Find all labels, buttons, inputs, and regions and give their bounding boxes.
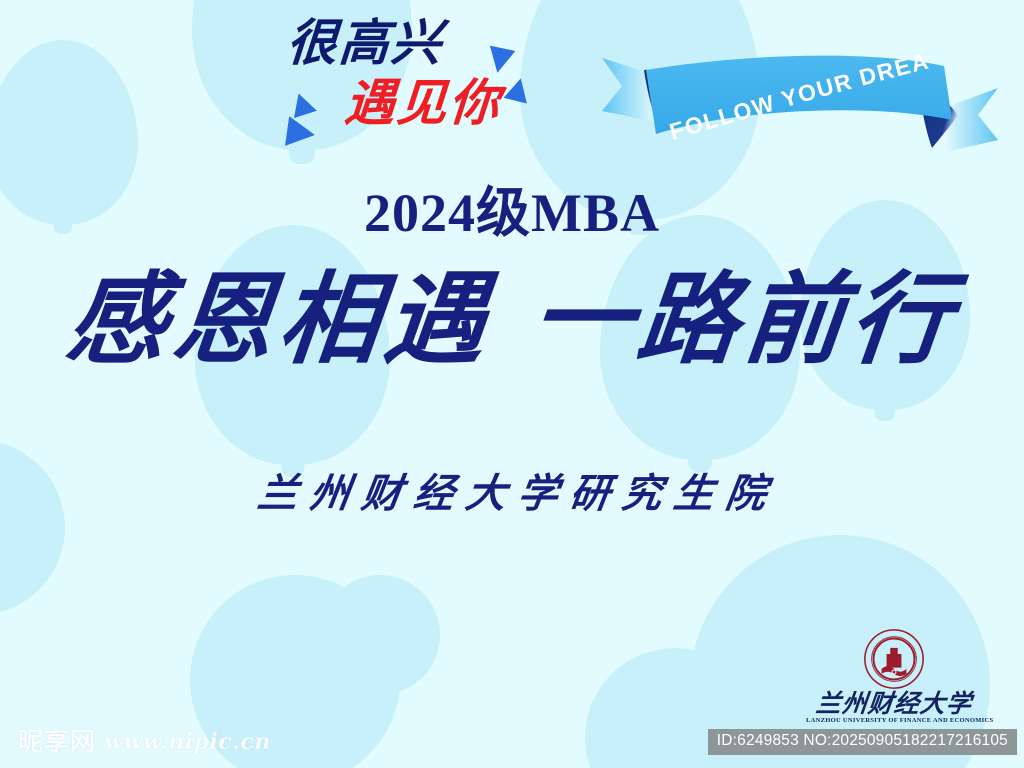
site-watermark-url: www.nipic.cn xyxy=(104,731,271,753)
site-watermark: 昵享网 www.nipic.cn xyxy=(18,729,271,754)
poster-canvas: 很高兴 遇见你 xyxy=(0,0,1024,768)
greeting-line-2: 遇见你 xyxy=(343,78,502,128)
program-title: 2024级MBA xyxy=(0,186,1024,240)
organization-title: 兰州财经大学研究生院 xyxy=(0,474,1024,514)
slogan-title: 感恩相遇 一路前行 xyxy=(0,266,1024,372)
ribbon-graphic: FOLLOW YOUR DREAM xyxy=(600,48,1000,178)
university-name-en: LANZHOU UNIVERSITY OF FINANCE AND ECONOM… xyxy=(806,718,982,725)
greeting-line-1: 很高兴 xyxy=(285,18,444,68)
triangle-down-icon xyxy=(485,46,516,76)
university-name-cn: 兰州财经大学 xyxy=(805,691,984,716)
triangle-right-icon xyxy=(285,116,317,150)
circle-shape xyxy=(0,440,65,615)
university-logo: LANZHOU UNIVERSITY OF FINANCE 兰州财经大学 LAN… xyxy=(806,628,982,724)
image-id-watermark: ID:6249853 NO:20250905182217216105 xyxy=(708,729,1017,755)
ribbon-banner: FOLLOW YOUR DREAM xyxy=(600,48,1000,178)
university-seal-emblem: LANZHOU UNIVERSITY OF FINANCE xyxy=(863,628,925,690)
circle-shape xyxy=(320,575,440,695)
site-watermark-mark: 昵享网 xyxy=(18,729,96,754)
triangle-up-icon xyxy=(504,75,533,103)
greeting-block: 很高兴 遇见你 xyxy=(287,18,547,148)
triangle-up-icon xyxy=(287,90,317,118)
